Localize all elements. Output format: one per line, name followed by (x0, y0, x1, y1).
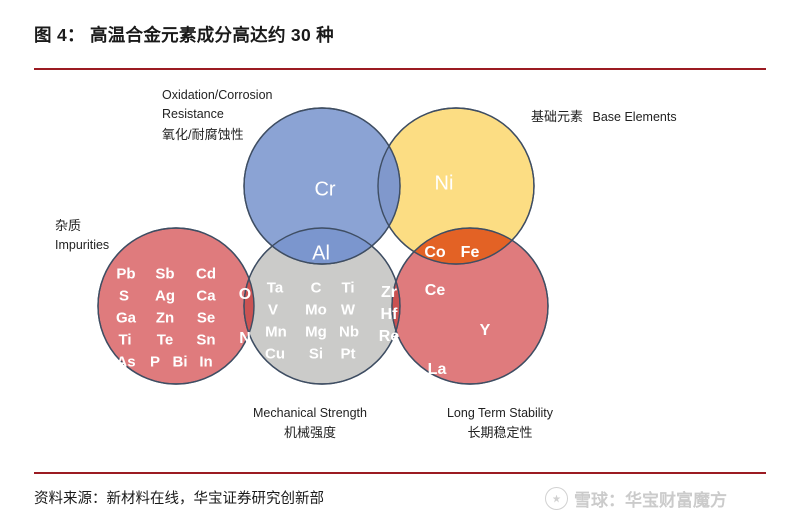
label-long-term-stability: Long Term Stability 长期稳定性 (447, 404, 553, 444)
element-ga: Ga (116, 310, 136, 327)
element-al: Al (312, 243, 330, 266)
element-ni: Ni (435, 173, 454, 196)
element-v: V (268, 302, 278, 319)
element-ti-impurity: Ti (118, 332, 131, 349)
element-s: S (119, 288, 129, 305)
label-oxidation-line2: Resistance (162, 105, 272, 124)
element-cu: Cu (265, 346, 285, 363)
label-oxidation-line1: Oxidation/Corrosion (162, 86, 272, 105)
title-divider (34, 68, 766, 70)
element-mg: Mg (305, 324, 327, 341)
element-zn: Zn (156, 310, 174, 327)
element-co: Co (424, 244, 445, 262)
element-w: W (341, 302, 355, 319)
element-ti-mechanical: Ti (341, 280, 354, 297)
element-n: N (239, 330, 251, 348)
venn-diagram: Oxidation/Corrosion Resistance 氧化/耐腐蚀性 基… (0, 76, 800, 466)
label-stability-chinese: 长期稳定性 (447, 423, 553, 443)
element-bi: Bi (173, 354, 188, 371)
label-mechanical-strength: Mechanical Strength 机械强度 (253, 404, 367, 444)
element-ag: Ag (155, 288, 175, 305)
element-y: Y (480, 322, 491, 340)
element-pt: Pt (341, 346, 356, 363)
label-impurities: 杂质 Impurities (55, 216, 109, 256)
element-re: Re (379, 328, 399, 346)
label-base-elements-english: Base Elements (593, 110, 677, 124)
element-te: Te (157, 332, 173, 349)
element-ce: Ce (425, 282, 445, 300)
element-se: Se (197, 310, 215, 327)
element-o: O (239, 286, 251, 304)
page-title: 图 4： 高温合金元素成分高达约 30 种 (34, 22, 334, 47)
xueqiu-logo-icon (545, 487, 568, 510)
element-mn: Mn (265, 324, 287, 341)
watermark-text: 雪球：华宝财富魔方 (574, 486, 727, 511)
source-note: 资料来源：新材料在线，华宝证券研究创新部 (34, 487, 324, 508)
element-zr: Zr (381, 284, 397, 302)
element-ta: Ta (267, 280, 283, 297)
footer-divider (34, 472, 766, 474)
label-impurities-english: Impurities (55, 236, 109, 255)
element-la: La (428, 361, 447, 379)
label-oxidation-chinese: 氧化/耐腐蚀性 (162, 125, 272, 145)
element-nb: Nb (339, 324, 359, 341)
watermark: 雪球：华宝财富魔方 (545, 486, 727, 511)
element-cr: Cr (314, 179, 335, 202)
label-mechanical-chinese: 机械强度 (253, 423, 367, 443)
element-ca: Ca (196, 288, 215, 305)
label-base-elements-chinese: 基础元素 (531, 109, 583, 124)
label-mechanical-english: Mechanical Strength (253, 404, 367, 423)
label-impurities-chinese: 杂质 (55, 216, 109, 236)
element-p: P (150, 354, 160, 371)
element-pb: Pb (116, 266, 135, 283)
element-mo: Mo (305, 302, 327, 319)
element-sn: Sn (196, 332, 215, 349)
element-sb: Sb (155, 266, 174, 283)
element-si: Si (309, 346, 323, 363)
element-in: In (199, 354, 212, 371)
element-as: As (116, 354, 135, 371)
label-base-elements: 基础元素 Base Elements (531, 107, 677, 127)
element-hf: Hf (381, 306, 398, 324)
element-fe: Fe (461, 244, 480, 262)
label-oxidation-resistance: Oxidation/Corrosion Resistance 氧化/耐腐蚀性 (162, 86, 272, 145)
label-stability-english: Long Term Stability (447, 404, 553, 423)
element-cd: Cd (196, 266, 216, 283)
element-c: C (311, 280, 322, 297)
